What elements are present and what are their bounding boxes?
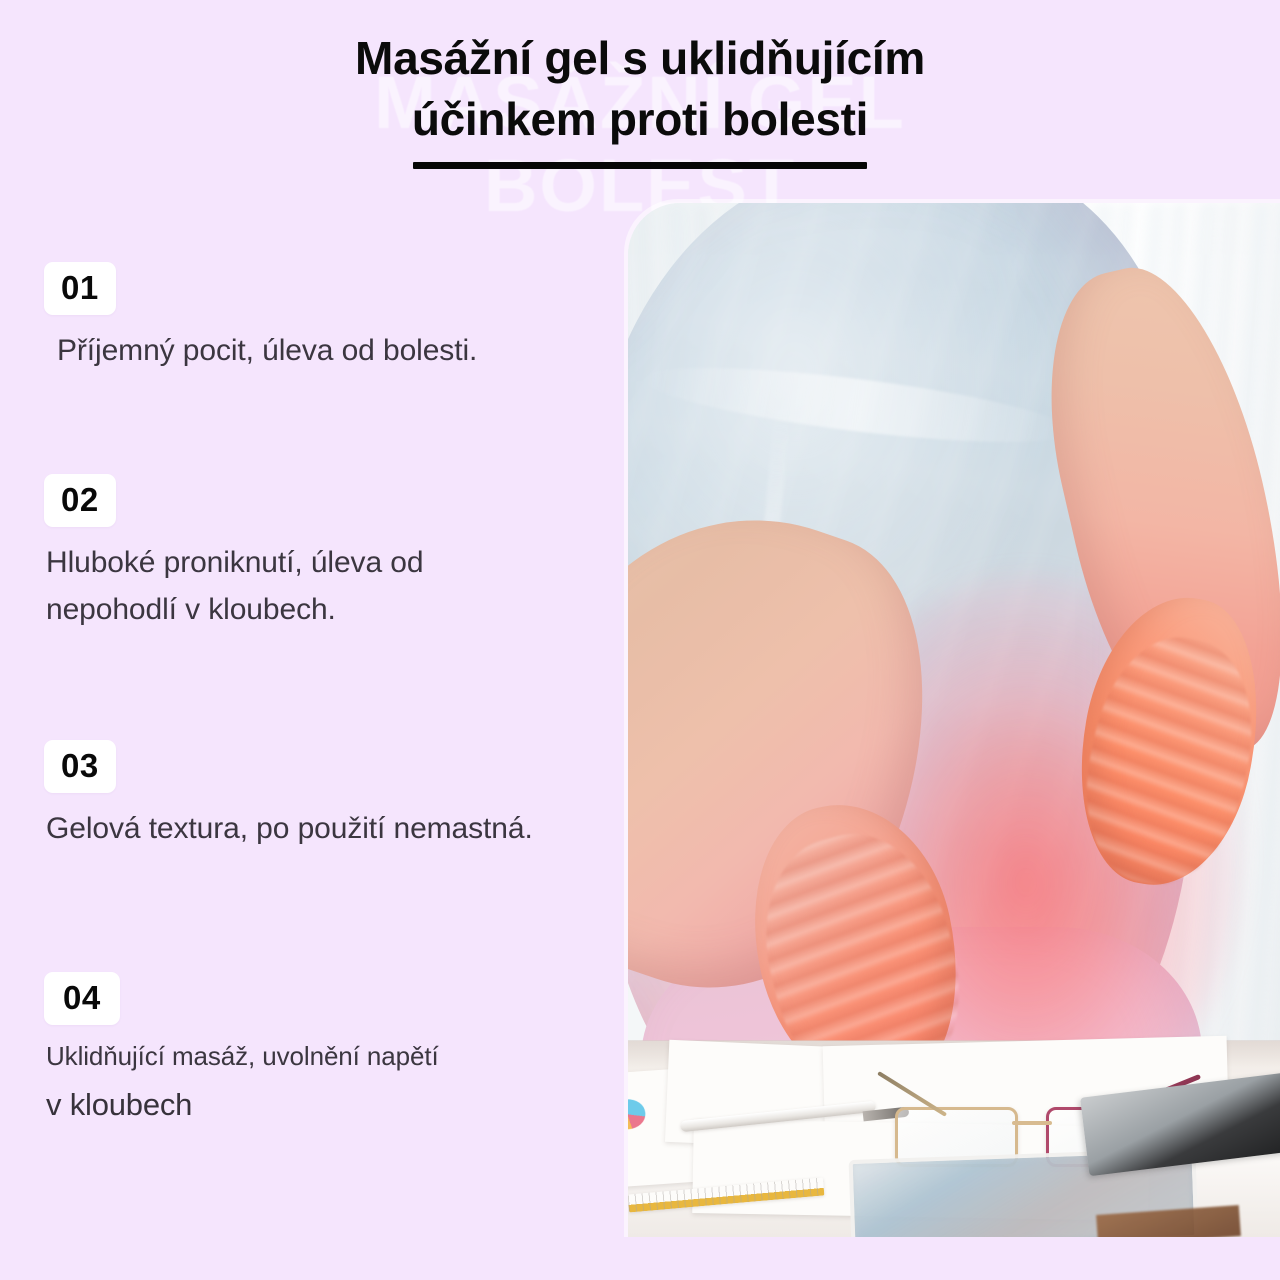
feature-number-badge: 02 bbox=[44, 474, 116, 527]
hero-photo bbox=[628, 203, 1280, 1237]
list-item: 04 Uklidňující masáž, uvolnění napětí v … bbox=[44, 972, 604, 1125]
feature-text: Hluboké proniknutí, úleva od nepohodlí v… bbox=[46, 540, 604, 633]
poster-canvas: MASÁŽNÍ GEL BOLEST Masážní gel s uklidňu… bbox=[0, 0, 1280, 1280]
feature-number-badge: 01 bbox=[44, 262, 116, 315]
list-item: 01 Příjemný pocit, úleva od bolesti. bbox=[44, 262, 604, 375]
hero-photo-content bbox=[628, 203, 1280, 1237]
list-item: 03 Gelová textura, po použití nemastná. bbox=[44, 740, 604, 853]
feature-number-badge: 04 bbox=[44, 972, 120, 1025]
header: Masážní gel s uklidňujícím účinkem proti… bbox=[0, 28, 1280, 169]
list-item: 02 Hluboké proniknutí, úleva od nepohodl… bbox=[44, 474, 604, 633]
desk-foreground bbox=[628, 1041, 1280, 1237]
title-underline bbox=[413, 162, 867, 169]
feature-number-badge: 03 bbox=[44, 740, 116, 793]
feature-text: Gelová textura, po použití nemastná. bbox=[46, 806, 604, 853]
feature-text: Příjemný pocit, úleva od bolesti. bbox=[57, 328, 604, 375]
eyeglasses-bridge bbox=[1012, 1121, 1052, 1125]
page-title: Masážní gel s uklidňujícím účinkem proti… bbox=[0, 28, 1280, 150]
chart-pie-icon bbox=[628, 1099, 647, 1131]
feature-text: Uklidňující masáž, uvolnění napětí bbox=[46, 1038, 604, 1076]
feature-text-emphasis: v kloubech bbox=[46, 1085, 604, 1125]
